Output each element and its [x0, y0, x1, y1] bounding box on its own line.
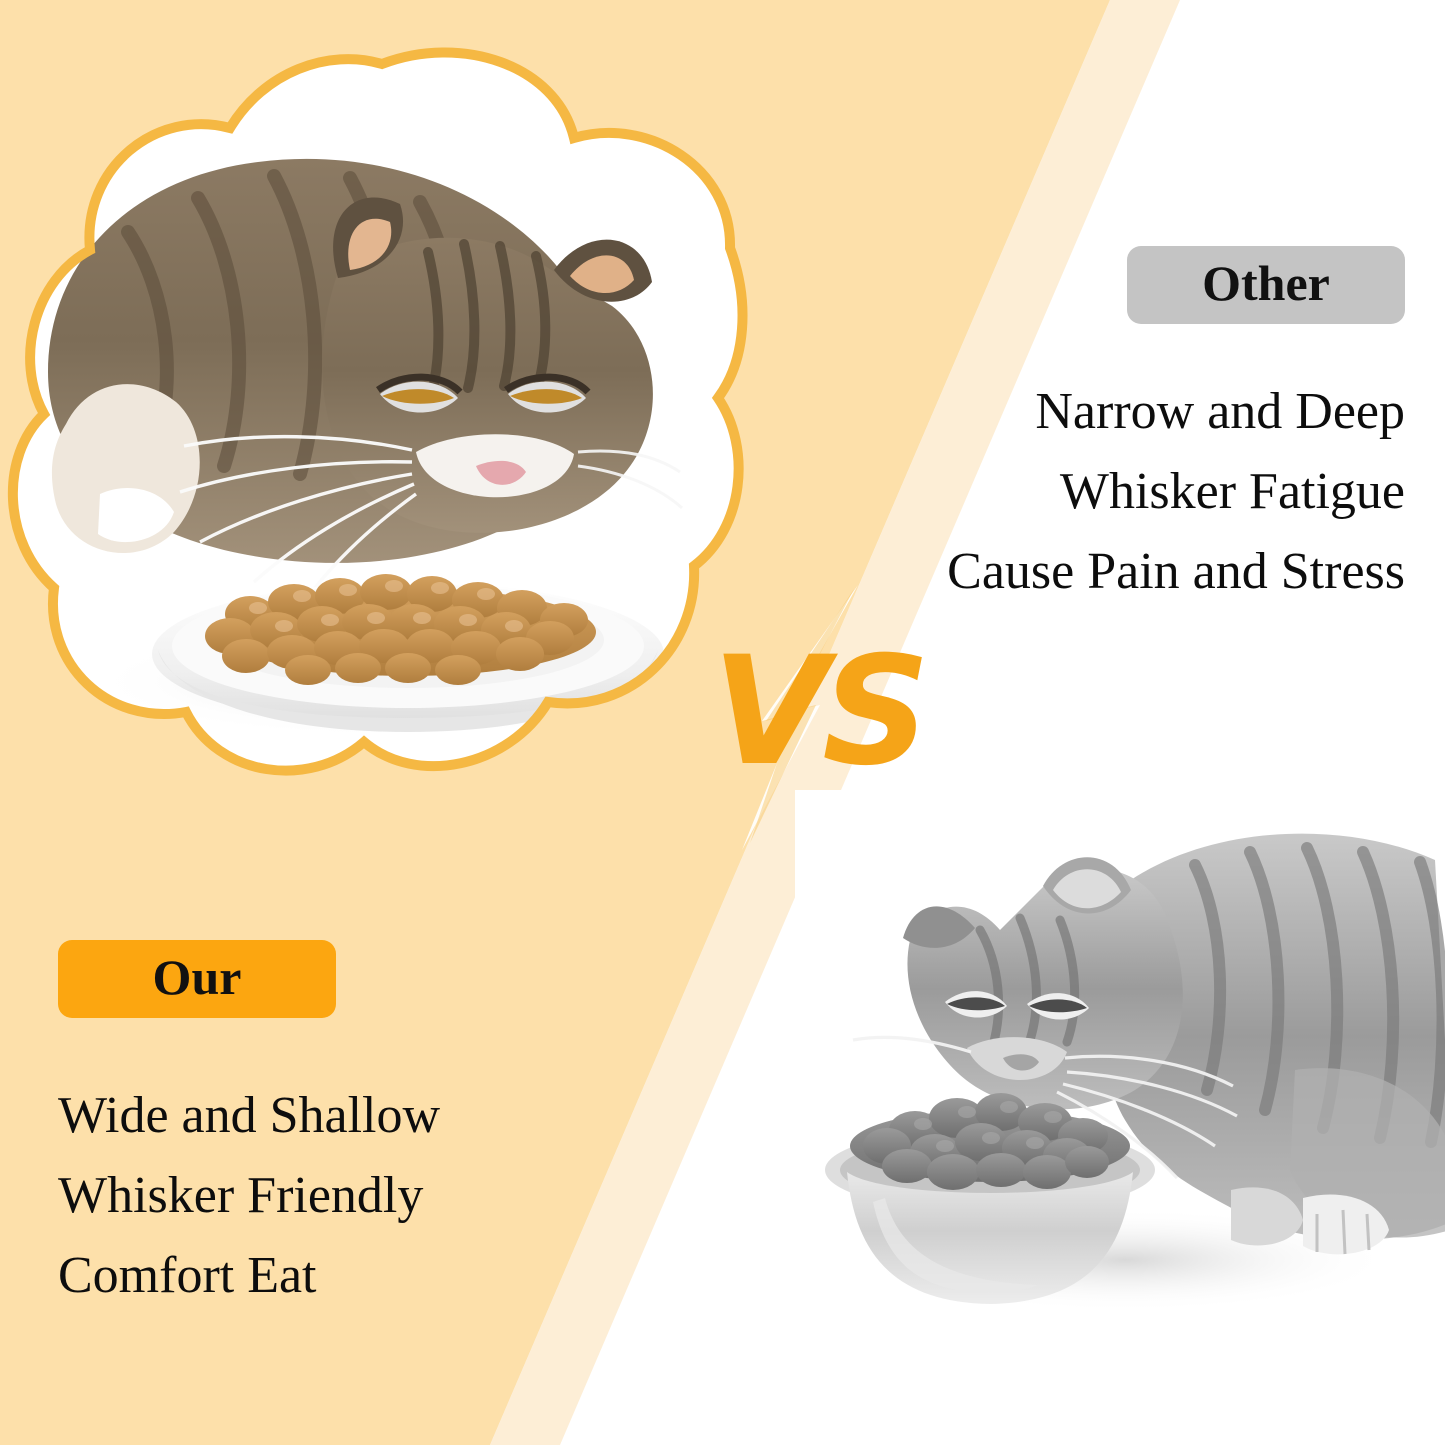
our-feature-item: Wide and Shallow	[58, 1076, 698, 1156]
other-feature-item: Cause Pain and Stress	[785, 532, 1405, 612]
our-feature-item: Whisker Friendly	[58, 1156, 698, 1236]
other-feature-list: Narrow and Deep Whisker Fatigue Cause Pa…	[785, 372, 1405, 612]
other-feature-item: Whisker Fatigue	[785, 452, 1405, 532]
our-feature-list: Wide and Shallow Whisker Friendly Comfor…	[58, 1076, 698, 1316]
vs-badge: VS	[690, 585, 920, 850]
our-product-photo-frame	[8, 42, 756, 804]
vs-label: VS	[712, 637, 924, 787]
other-feature-item: Narrow and Deep	[785, 372, 1405, 452]
our-badge: Our	[58, 940, 336, 1018]
our-feature-item: Comfort Eat	[58, 1236, 698, 1316]
other-badge: Other	[1127, 246, 1405, 324]
other-column: Other Narrow and Deep Whisker Fatigue Ca…	[785, 246, 1405, 612]
other-product-photo	[795, 790, 1445, 1445]
comparison-infographic: VS Other Narrow and Deep Whisker Fatigue…	[0, 0, 1445, 1445]
our-column: Our Wide and Shallow Whisker Friendly Co…	[58, 940, 698, 1316]
